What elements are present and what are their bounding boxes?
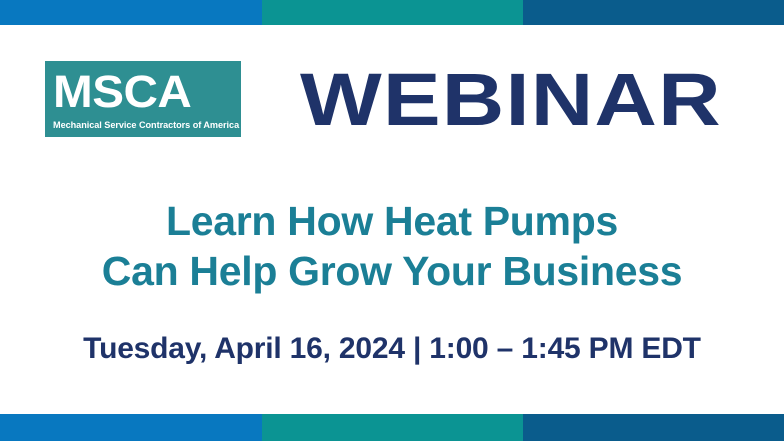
webinar-title-line-1: Learn How Heat Pumps (0, 196, 784, 246)
rule-segment-blue (0, 0, 262, 25)
webinar-title-line-2: Can Help Grow Your Business (0, 246, 784, 296)
bottom-color-rule (0, 414, 784, 441)
webinar-schedule: Tuesday, April 16, 2024 | 1:00 – 1:45 PM… (0, 330, 784, 368)
rule-segment-navy (523, 414, 784, 441)
rule-segment-blue (0, 414, 262, 441)
rule-segment-teal (262, 0, 523, 25)
rule-segment-teal (262, 414, 523, 441)
top-color-rule (0, 0, 784, 25)
msca-logo: MSCA Mechanical Service Contractors of A… (45, 61, 241, 137)
webinar-title: Learn How Heat Pumps Can Help Grow Your … (0, 196, 784, 296)
webinar-promo-banner: MSCA Mechanical Service Contractors of A… (0, 0, 784, 441)
rule-segment-navy (523, 0, 784, 25)
banner-header: MSCA Mechanical Service Contractors of A… (0, 52, 784, 147)
webinar-eyebrow-title: WEBINAR (300, 52, 784, 147)
msca-logo-wordmark: MSCA (53, 68, 191, 115)
msca-logo-tagline: Mechanical Service Contractors of Americ… (53, 119, 239, 131)
